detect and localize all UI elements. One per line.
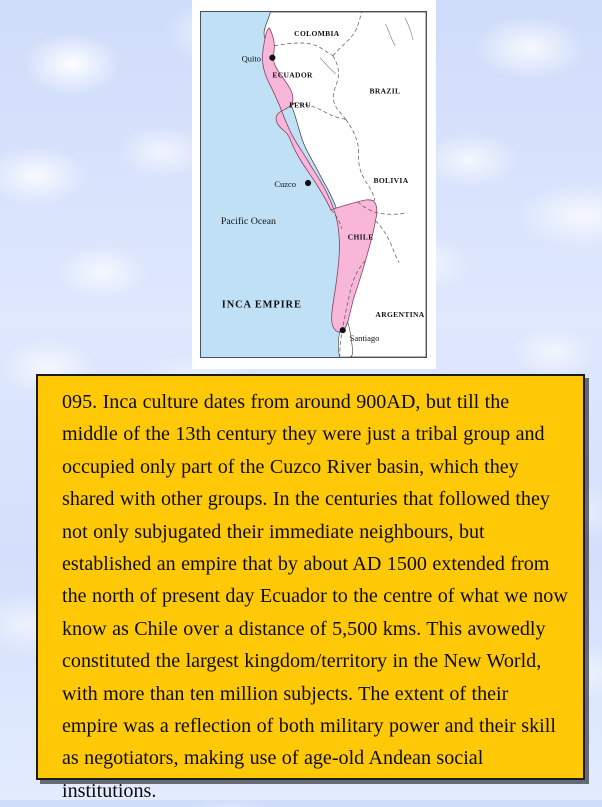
city-label-quito: Quito	[242, 54, 261, 64]
map-frame: COLOMBIA ECUADOR PERU BRAZIL BOLIVIA CHI…	[200, 11, 427, 358]
country-label-bolivia: BOLIVIA	[373, 176, 408, 185]
city-dot-quito	[269, 55, 275, 61]
city-dot-santiago	[340, 327, 346, 333]
country-label-argentina: ARGENTINA	[375, 310, 424, 319]
ocean-label: Pacific Ocean	[221, 216, 276, 227]
country-label-chile: CHILE	[348, 233, 374, 242]
country-label-ecuador: ECUADOR	[272, 71, 313, 80]
caption-panel: 095. Inca culture dates from around 900A…	[36, 374, 585, 780]
map-figure: COLOMBIA ECUADOR PERU BRAZIL BOLIVIA CHI…	[192, 0, 436, 369]
country-label-brazil: BRAZIL	[370, 87, 401, 96]
city-label-santiago: Santiago	[350, 333, 380, 343]
country-label-peru: PERU	[289, 100, 311, 109]
city-label-cuzco: Cuzco	[274, 179, 296, 189]
country-label-colombia: COLOMBIA	[294, 29, 340, 38]
empire-label: INCA EMPIRE	[222, 299, 302, 310]
city-dot-cuzco	[305, 180, 311, 186]
inca-empire-map-svg: COLOMBIA ECUADOR PERU BRAZIL BOLIVIA CHI…	[201, 12, 426, 357]
caption-text: 095. Inca culture dates from around 900A…	[62, 386, 569, 807]
